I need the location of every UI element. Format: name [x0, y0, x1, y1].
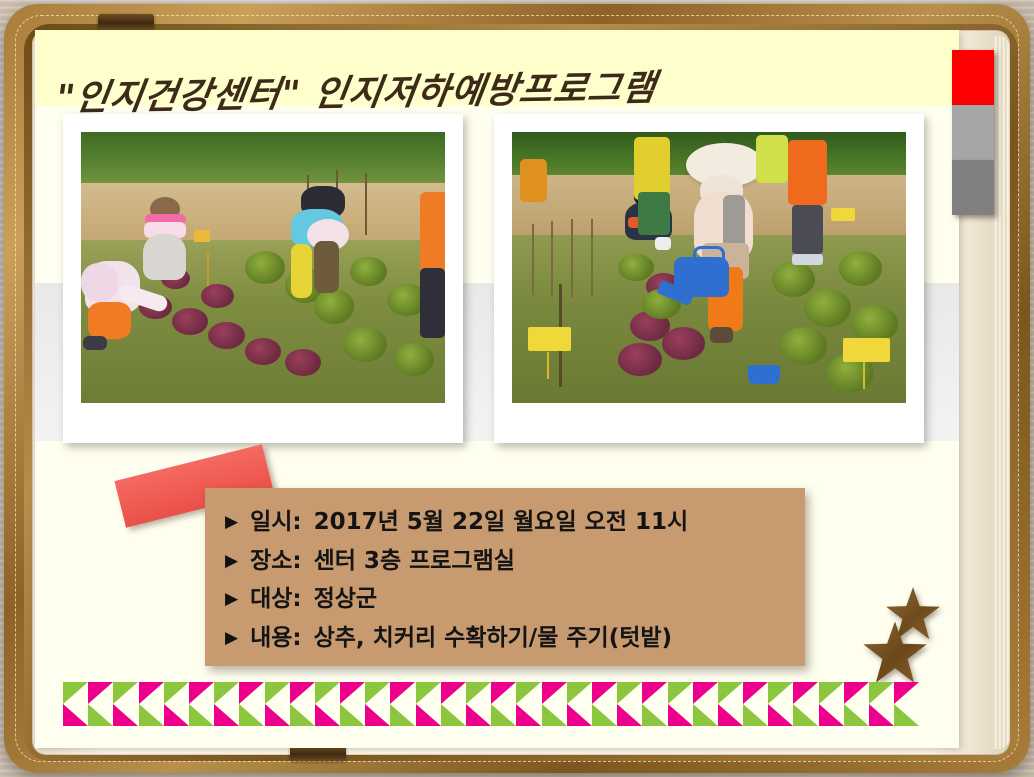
triangle-lower-icon — [113, 704, 138, 726]
triangle-lower-icon — [793, 704, 818, 726]
triangle-upper-icon — [315, 682, 340, 704]
triangle-upper-icon — [617, 682, 642, 704]
triangle-cell — [113, 682, 138, 726]
bullet-marker-icon: ▶ — [225, 622, 238, 654]
triangle-cell — [365, 682, 390, 726]
triangle-upper-icon — [466, 682, 491, 704]
triangle-lower-icon — [416, 704, 441, 726]
bullet-item-target: ▶ 대상: 정상군 — [225, 583, 795, 616]
triangle-cell — [567, 682, 592, 726]
triangle-upper-icon — [491, 682, 516, 704]
triangle-cell — [642, 682, 667, 726]
triangle-lower-icon — [617, 704, 642, 726]
bullet-label-content: 내용: — [250, 622, 302, 655]
triangle-cell — [265, 682, 290, 726]
triangle-cell — [516, 682, 541, 726]
triangle-lower-icon — [214, 704, 239, 726]
triangle-cell — [239, 682, 264, 726]
triangle-cell — [416, 682, 441, 726]
bullet-item-content: ▶ 내용: 상추, 치커리 수확하기/물 주기(텃밭) — [225, 622, 795, 655]
page-title: "인지건강센터" 인지저하예방프로그램 — [53, 59, 661, 121]
triangle-upper-icon — [542, 682, 567, 704]
triangle-upper-icon — [768, 682, 793, 704]
triangle-lower-icon — [819, 704, 844, 726]
triangle-upper-icon — [718, 682, 743, 704]
bullet-label-location: 장소: — [250, 545, 302, 578]
book-clasp-top — [98, 14, 154, 30]
triangle-upper-icon — [668, 682, 693, 704]
triangle-cell — [315, 682, 340, 726]
triangle-upper-icon — [239, 682, 264, 704]
bullet-marker-icon: ▶ — [225, 583, 238, 615]
bullet-marker-icon: ▶ — [225, 545, 238, 577]
triangle-lower-icon — [265, 704, 290, 726]
triangle-upper-icon — [340, 682, 365, 704]
triangle-cell — [718, 682, 743, 726]
triangle-cell — [844, 682, 869, 726]
triangle-cell — [63, 682, 88, 726]
triangle-lower-icon — [642, 704, 667, 726]
triangle-cell — [164, 682, 189, 726]
triangle-cell — [617, 682, 642, 726]
triangle-cell — [592, 682, 617, 726]
triangle-cell — [214, 682, 239, 726]
triangle-lower-icon — [466, 704, 491, 726]
triangle-lower-icon — [844, 704, 869, 726]
bullet-value-content: 상추, 치커리 수확하기/물 주기(텃밭) — [314, 622, 672, 655]
triangle-lower-icon — [139, 704, 164, 726]
triangle-upper-icon — [869, 682, 894, 704]
triangle-lower-icon — [592, 704, 617, 726]
title-banner: "인지건강센터" 인지저하예방프로그램 — [35, 30, 959, 106]
triangle-cell — [88, 682, 113, 726]
triangle-lower-icon — [189, 704, 214, 726]
photo-right-image — [512, 132, 906, 403]
triangle-upper-icon — [642, 682, 667, 704]
triangle-lower-icon — [88, 704, 113, 726]
triangle-upper-icon — [265, 682, 290, 704]
bullet-list: ▶ 일시: 2017년 5월 22일 월요일 오전 11시 ▶ 장소: 센터 3… — [225, 506, 795, 661]
triangle-lower-icon — [290, 704, 315, 726]
triangle-cell — [869, 682, 894, 726]
triangle-lower-icon — [390, 704, 415, 726]
triangle-cell — [768, 682, 793, 726]
triangle-lower-icon — [340, 704, 365, 726]
triangle-upper-icon — [390, 682, 415, 704]
triangle-upper-icon — [693, 682, 718, 704]
bullet-label-target: 대상: — [250, 583, 302, 616]
triangle-lower-icon — [315, 704, 340, 726]
triangle-upper-icon — [365, 682, 390, 704]
bullet-value-location: 센터 3층 프로그램실 — [314, 545, 515, 578]
photo-frame-right — [494, 114, 924, 443]
triangle-upper-icon — [516, 682, 541, 704]
triangle-cell — [340, 682, 365, 726]
triangle-upper-icon — [416, 682, 441, 704]
triangle-lower-icon — [894, 704, 919, 726]
triangle-lower-icon — [693, 704, 718, 726]
triangle-upper-icon — [88, 682, 113, 704]
triangle-cell — [290, 682, 315, 726]
slide-canvas: "인지건강센터" 인지저하예방프로그램 — [0, 0, 1034, 777]
triangle-lower-icon — [668, 704, 693, 726]
triangle-cell — [793, 682, 818, 726]
triangle-cell — [139, 682, 164, 726]
content-box: ▶ 일시: 2017년 5월 22일 월요일 오전 11시 ▶ 장소: 센터 3… — [205, 488, 805, 666]
triangle-upper-icon — [819, 682, 844, 704]
bullet-marker-icon: ▶ — [225, 506, 238, 538]
triangle-cell — [693, 682, 718, 726]
triangle-lower-icon — [542, 704, 567, 726]
triangle-lower-icon — [718, 704, 743, 726]
triangle-cell — [668, 682, 693, 726]
side-tab-dark-gray[interactable] — [952, 160, 994, 215]
triangle-cell — [542, 682, 567, 726]
triangle-upper-icon — [743, 682, 768, 704]
triangle-lower-icon — [365, 704, 390, 726]
bullet-item-location: ▶ 장소: 센터 3층 프로그램실 — [225, 545, 795, 578]
triangle-border-decoration — [63, 682, 927, 726]
bullet-value-datetime: 2017년 5월 22일 월요일 오전 11시 — [314, 506, 689, 539]
triangle-lower-icon — [491, 704, 516, 726]
triangle-upper-icon — [164, 682, 189, 704]
triangle-upper-icon — [441, 682, 466, 704]
triangle-cell — [441, 682, 466, 726]
photo-left-image — [81, 132, 445, 403]
triangle-upper-icon — [189, 682, 214, 704]
bullet-item-datetime: ▶ 일시: 2017년 5월 22일 월요일 오전 11시 — [225, 506, 795, 539]
triangle-cell — [466, 682, 491, 726]
triangle-lower-icon — [869, 704, 894, 726]
side-tab-light-gray[interactable] — [952, 105, 994, 160]
triangle-upper-icon — [63, 682, 88, 704]
triangle-upper-icon — [113, 682, 138, 704]
triangle-upper-icon — [139, 682, 164, 704]
triangle-lower-icon — [567, 704, 592, 726]
bullet-label-datetime: 일시: — [250, 506, 302, 539]
triangle-lower-icon — [239, 704, 264, 726]
photo-frame-left — [63, 114, 463, 443]
triangle-upper-icon — [214, 682, 239, 704]
side-tab-red[interactable] — [952, 50, 994, 105]
triangle-lower-icon — [164, 704, 189, 726]
triangle-upper-icon — [793, 682, 818, 704]
triangle-upper-icon — [844, 682, 869, 704]
triangle-cell — [819, 682, 844, 726]
triangle-upper-icon — [894, 682, 919, 704]
triangle-upper-icon — [290, 682, 315, 704]
triangle-cell — [491, 682, 516, 726]
triangle-lower-icon — [768, 704, 793, 726]
triangle-cell — [743, 682, 768, 726]
triangle-lower-icon — [63, 704, 88, 726]
triangle-cell — [189, 682, 214, 726]
triangle-cell — [894, 682, 919, 726]
triangle-cell — [390, 682, 415, 726]
triangle-lower-icon — [743, 704, 768, 726]
triangle-upper-icon — [567, 682, 592, 704]
triangle-lower-icon — [441, 704, 466, 726]
triangle-upper-icon — [592, 682, 617, 704]
triangle-lower-icon — [516, 704, 541, 726]
bullet-value-target: 정상군 — [314, 583, 377, 616]
